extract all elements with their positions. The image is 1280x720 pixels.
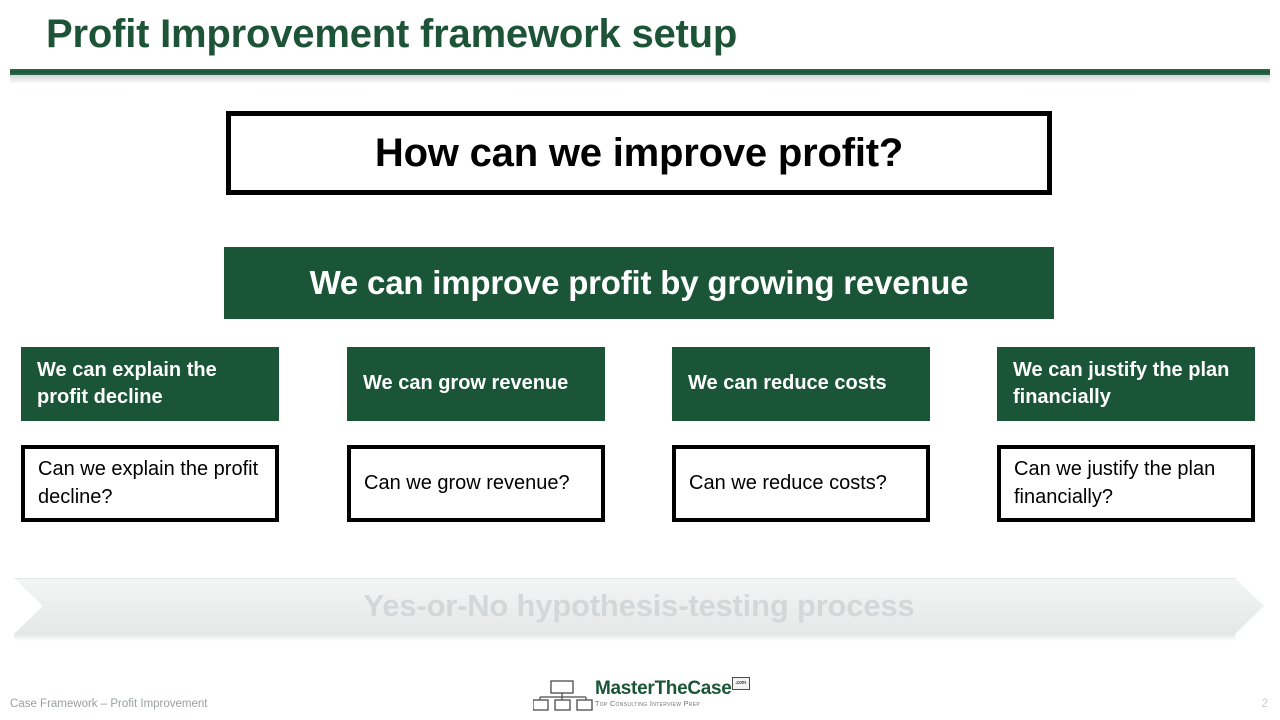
branch-hypothesis-box: We can explain the profit decline (21, 347, 279, 421)
branch-hypothesis-text: We can explain the profit decline (37, 357, 263, 411)
slide-canvas: Profit Improvement framework setup How c… (0, 0, 1280, 720)
branch-hypothesis-box: We can justify the plan financially (997, 347, 1255, 421)
process-banner-text: Yes-or-No hypothesis-testing process (364, 588, 915, 624)
process-banner-shadow (14, 634, 1264, 641)
branch-hypothesis-text: We can grow revenue (363, 370, 568, 397)
org-chart-icon (533, 680, 593, 712)
page-title: Profit Improvement framework setup (46, 12, 737, 57)
logo-word-master: Master (595, 678, 654, 699)
branch-column-justify-plan-financially: We can justify the plan financially Can … (997, 347, 1255, 522)
page-number: 2 (1262, 698, 1268, 710)
branch-hypothesis-text: We can reduce costs (688, 370, 887, 397)
branch-hypothesis-box: We can reduce costs (672, 347, 930, 421)
main-hypothesis-text: We can improve profit by growing revenue (310, 264, 969, 302)
main-question-text: How can we improve profit? (375, 131, 903, 176)
logo-dotcom-badge: .com (732, 677, 750, 690)
branch-question-box: Can we justify the plan financially? (997, 445, 1255, 522)
branch-hypothesis-text: We can justify the plan financially (1013, 357, 1239, 411)
process-banner-chevron: Yes-or-No hypothesis-testing process (14, 578, 1264, 634)
branch-question-box: Can we grow revenue? (347, 445, 605, 522)
branch-column-reduce-costs: We can reduce costs Can we reduce costs? (672, 347, 930, 522)
footer-breadcrumb: Case Framework – Profit Improvement (10, 698, 207, 710)
logo-word-case: Case (687, 678, 731, 699)
main-hypothesis-bar: We can improve profit by growing revenue (224, 247, 1054, 319)
logo-word-the: The (654, 678, 687, 699)
branch-column-grow-revenue: We can grow revenue Can we grow revenue? (347, 347, 605, 522)
branch-column-explain-profit-decline: We can explain the profit decline Can we… (21, 347, 279, 522)
branch-question-text: Can we explain the profit decline? (38, 456, 262, 510)
brand-logo: MasterTheCase.com Top Consulting Intervi… (533, 679, 755, 713)
branch-question-text: Can we grow revenue? (364, 470, 570, 497)
main-question-box: How can we improve profit? (226, 111, 1052, 195)
branch-question-box: Can we explain the profit decline? (21, 445, 279, 522)
branch-question-text: Can we reduce costs? (689, 470, 887, 497)
branch-hypothesis-box: We can grow revenue (347, 347, 605, 421)
logo-text-block: MasterTheCase.com Top Consulting Intervi… (595, 679, 732, 708)
branch-columns: We can explain the profit decline Can we… (0, 347, 1280, 537)
logo-wordmark: MasterTheCase.com (595, 679, 732, 698)
branch-question-text: Can we justify the plan financially? (1014, 456, 1238, 510)
branch-question-box: Can we reduce costs? (672, 445, 930, 522)
logo-tagline: Top Consulting Interview Prep (595, 699, 732, 708)
title-divider-shadow (10, 75, 1270, 84)
